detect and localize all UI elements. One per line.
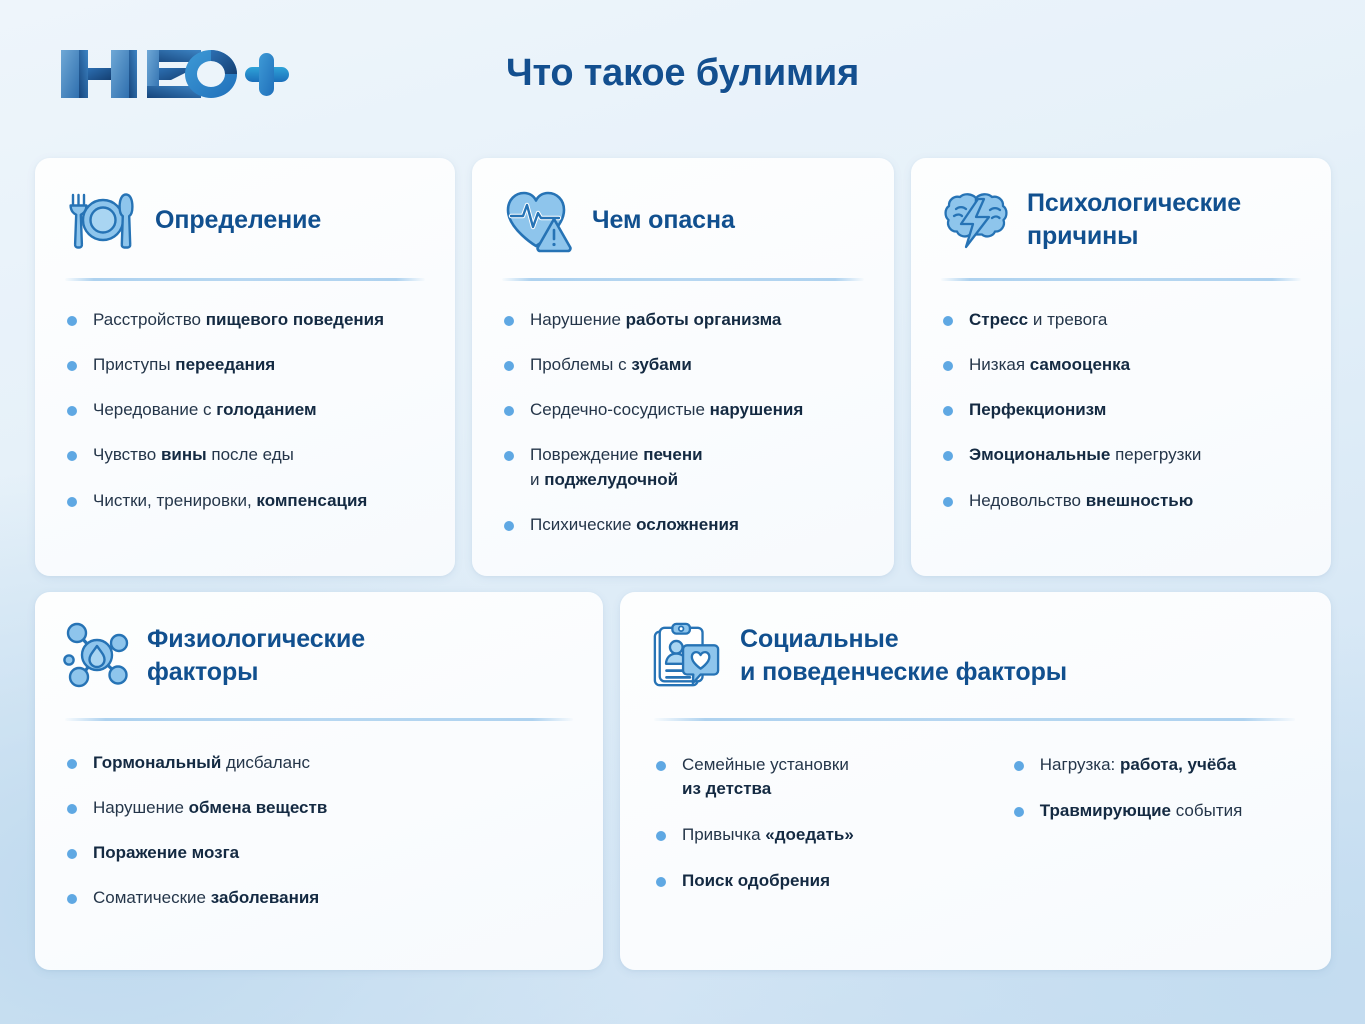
heart-pulse-warning-icon — [502, 184, 574, 256]
list-item: Повреждение печении поджелудочной — [502, 443, 868, 491]
plate-fork-knife-icon — [65, 184, 137, 256]
card-definition-title: Определение — [155, 204, 321, 237]
card-physio-title: Физиологическиефакторы — [147, 623, 365, 689]
card-danger-header: Чем опасна — [502, 184, 868, 256]
page-title: Что такое булимия — [0, 52, 1365, 95]
list-item: Поиск одобрения — [654, 869, 982, 893]
card-physio-list: Гормональный дисбалансНарушение обмена в… — [65, 751, 577, 911]
list-item: Эмоциональные перегрузки — [941, 443, 1305, 467]
list-item: Гормональный дисбаланс — [65, 751, 577, 775]
list-item: Травмирующие события — [1012, 799, 1301, 823]
list-item: Соматические заболевания — [65, 886, 577, 910]
list-item: Расстройство пищевого поведения — [65, 308, 429, 332]
card-social-list-left: Семейные установкииз детстваПривычка «до… — [654, 753, 982, 894]
card-psych-header: Психологическиепричины — [941, 184, 1305, 256]
list-item: Перфекционизм — [941, 398, 1305, 422]
card-psych-title: Психологическиепричины — [1027, 187, 1241, 253]
list-item: Привычка «доедать» — [654, 823, 982, 847]
card-physio-header: Физиологическиефакторы — [61, 620, 577, 692]
card-definition: Определение Расстройство пищевого поведе… — [35, 158, 455, 576]
card-definition-divider — [65, 278, 425, 281]
card-danger-title: Чем опасна — [592, 204, 735, 237]
card-danger-divider — [502, 278, 864, 281]
card-social-columns: Семейные установкииз детстваПривычка «до… — [654, 753, 1301, 916]
card-physio-divider — [65, 718, 573, 721]
list-item: Чувство вины после еды — [65, 443, 429, 467]
list-item: Семейные установкииз детства — [654, 753, 982, 801]
list-item: Приступы переедания — [65, 353, 429, 377]
list-item: Нарушение обмена веществ — [65, 796, 577, 820]
molecule-droplet-icon — [61, 620, 133, 692]
card-danger-list: Нарушение работы организмаПроблемы с зуб… — [502, 308, 868, 537]
card-psych: Психологическиепричины Стресс и тревогаН… — [911, 158, 1331, 576]
list-item: Чистки, тренировки, компенсация — [65, 489, 429, 513]
page-header: Что такое булимия — [0, 0, 1365, 150]
list-item: Чередование с голоданием — [65, 398, 429, 422]
card-psych-list: Стресс и тревогаНизкая самооценкаПерфекц… — [941, 308, 1305, 513]
card-social-title: Социальныеи поведенческие факторы — [740, 623, 1067, 689]
list-item: Низкая самооценка — [941, 353, 1305, 377]
brain-lightning-icon — [941, 184, 1013, 256]
list-item: Недовольство внешностью — [941, 489, 1305, 513]
list-item: Стресс и тревога — [941, 308, 1305, 332]
card-social-column-right: Нагрузка: работа, учёбаТравмирующие собы… — [1012, 753, 1301, 916]
card-social-divider — [654, 718, 1295, 721]
card-psych-divider — [941, 278, 1301, 281]
clipboard-person-heart-icon — [650, 620, 722, 692]
card-definition-header: Определение — [65, 184, 429, 256]
card-danger: Чем опасна Нарушение работы организмаПро… — [472, 158, 894, 576]
card-physio: Физиологическиефакторы Гормональный дисб… — [35, 592, 603, 970]
infographic-page: Что такое булимия Опр — [0, 0, 1365, 1024]
list-item: Сердечно-сосудистые нарушения — [502, 398, 868, 422]
card-definition-list: Расстройство пищевого поведенияПриступы … — [65, 308, 429, 513]
card-social-list-right: Нагрузка: работа, учёбаТравмирующие собы… — [1012, 753, 1301, 823]
list-item: Нарушение работы организма — [502, 308, 868, 332]
card-social-column-left: Семейные установкииз детстваПривычка «до… — [654, 753, 982, 916]
list-item: Проблемы с зубами — [502, 353, 868, 377]
list-item: Психические осложнения — [502, 513, 868, 537]
list-item: Поражение мозга — [65, 841, 577, 865]
card-social: Социальныеи поведенческие факторы Семейн… — [620, 592, 1331, 970]
card-social-header: Социальныеи поведенческие факторы — [650, 620, 1305, 692]
list-item: Нагрузка: работа, учёба — [1012, 753, 1301, 777]
